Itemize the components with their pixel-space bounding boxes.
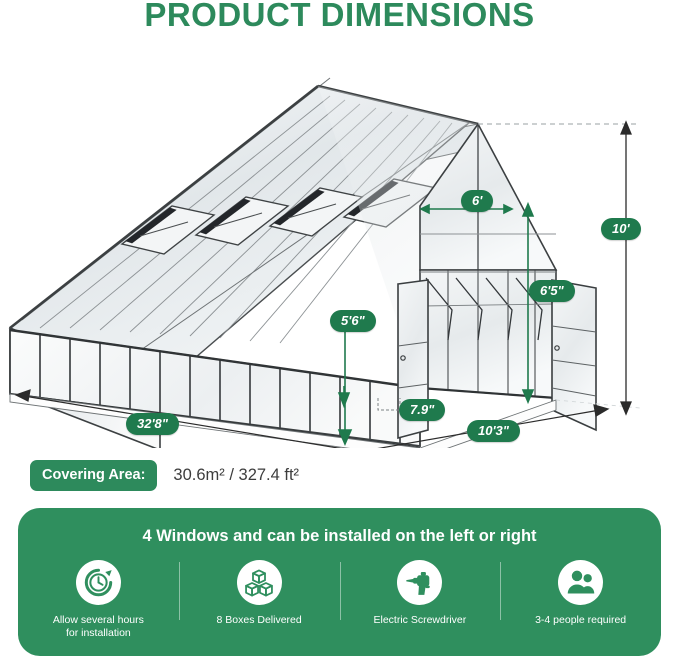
covering-area-row: Covering Area: 30.6m² / 327.4 ft² xyxy=(30,460,299,491)
drill-icon xyxy=(397,560,442,605)
feature-item-people: 3-4 people required xyxy=(500,560,661,627)
boxes-icon xyxy=(237,560,282,605)
feature-label-line1: Allow several hours xyxy=(53,614,144,626)
feature-label-installation-time: Allow several hours for installation xyxy=(53,614,144,640)
product-dimensions-infographic: PRODUCT DIMENSIONS xyxy=(0,0,679,670)
dimension-label-6ft: 6' xyxy=(461,190,493,212)
dimension-label-10ft3in: 10'3" xyxy=(467,420,520,442)
feature-label-people: 3-4 people required xyxy=(535,614,626,627)
page-title: PRODUCT DIMENSIONS xyxy=(0,0,679,34)
dimension-label-10ft: 10' xyxy=(601,218,641,240)
feature-label-line2: for installation xyxy=(66,627,131,639)
feature-item-boxes: 8 Boxes Delivered xyxy=(179,560,340,627)
dimension-label-6ft5in: 6'5" xyxy=(529,280,575,302)
feature-item-screwdriver: Electric Screwdriver xyxy=(340,560,501,627)
feature-panel-headline: 4 Windows and can be installed on the le… xyxy=(18,527,661,546)
covering-area-tag: Covering Area: xyxy=(30,460,157,491)
feature-panel: 4 Windows and can be installed on the le… xyxy=(18,508,661,656)
feature-item-installation-time: Allow several hours for installation xyxy=(18,560,179,640)
covering-area-value: 30.6m² / 327.4 ft² xyxy=(173,466,299,485)
dimension-label-7p9in: 7.9" xyxy=(399,399,445,421)
feature-label-boxes: 8 Boxes Delivered xyxy=(217,614,302,627)
clock-icon xyxy=(76,560,121,605)
greenhouse-illustration: 6' 10' 6'5" 5'6" 32'8" 7.9" 10'3" xyxy=(0,58,679,448)
dimension-label-32ft8in: 32'8" xyxy=(126,413,179,435)
dimension-label-5ft6in: 5'6" xyxy=(330,310,376,332)
greenhouse-body xyxy=(10,78,596,448)
people-icon xyxy=(558,560,603,605)
feature-list: Allow several hours for installation xyxy=(18,560,661,652)
door-right-leaf xyxy=(552,280,596,430)
feature-label-screwdriver: Electric Screwdriver xyxy=(373,614,466,627)
